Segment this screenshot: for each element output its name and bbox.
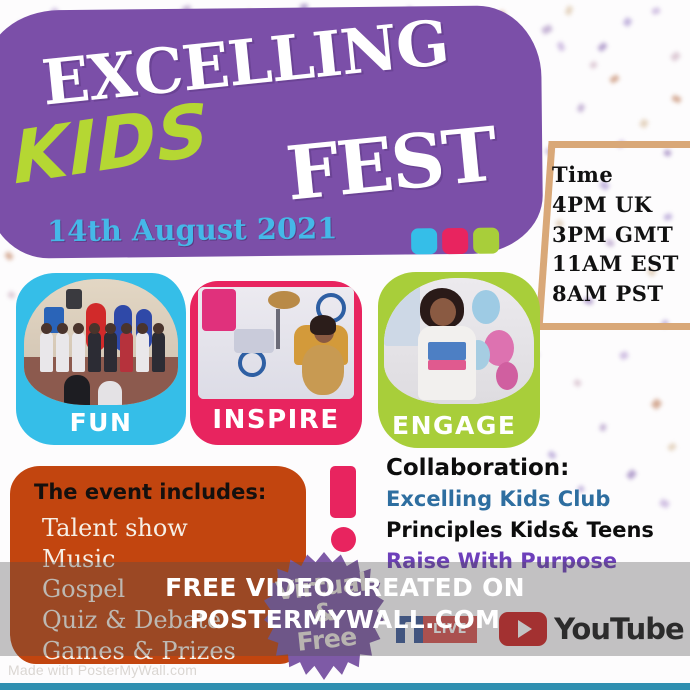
social-badges: LIVE YouTube: [396, 612, 684, 646]
youtube-icon[interactable]: [499, 612, 547, 646]
card-inspire-photo: [198, 287, 354, 399]
event-date: 14th August 2021: [47, 211, 338, 248]
event-includes-box: The event includes: Talent show Music Go…: [10, 466, 306, 664]
youtube-wordmark: YouTube: [554, 612, 684, 646]
swatch-green: [473, 228, 499, 254]
collaboration-heading: Collaboration:: [386, 455, 690, 481]
headline-banner: EXCELLING KIDS FEST 14th August 2021: [0, 5, 543, 259]
color-swatches: [411, 228, 499, 255]
card-engage: ENGAGE: [378, 272, 540, 448]
collaboration-section: Collaboration: Excelling Kids Club Princ…: [386, 455, 690, 573]
card-inspire-label: INSPIRE: [190, 405, 362, 435]
facebook-icon[interactable]: [396, 616, 423, 643]
time-line-uk: 4PM UK: [552, 190, 690, 220]
time-heading: Time: [552, 160, 690, 190]
collaboration-partner-raise-with-purpose: Raise With Purpose: [386, 549, 690, 573]
starburst-badge-text: Virtual & Free: [260, 568, 388, 659]
card-engage-label: ENGAGE: [378, 411, 540, 440]
collaboration-partner-principles-kids-teens: Principles Kids& Teens: [386, 518, 690, 542]
youtube-badge[interactable]: YouTube: [499, 612, 684, 646]
facebook-live-badge[interactable]: LIVE: [396, 616, 477, 643]
title-fest: FEST: [283, 112, 500, 218]
card-fun-label: FUN: [16, 408, 186, 437]
swatch-pink: [442, 228, 468, 254]
time-line-gmt: 3PM GMT: [552, 220, 690, 250]
live-label: LIVE: [423, 616, 477, 643]
includes-item-music: Music: [42, 544, 236, 575]
collaboration-partner-excelling-kids-club: Excelling Kids Club: [386, 487, 690, 511]
bottom-strip: [0, 683, 690, 690]
time-line-est: 11AM EST: [552, 249, 690, 279]
card-fun-photo: [24, 279, 178, 405]
event-includes-title: The event includes:: [34, 480, 266, 504]
time-line-pst: 8AM PST: [552, 279, 690, 309]
poster-canvas: Time 4PM UK 3PM GMT 11AM EST 8AM PST EXC…: [0, 0, 690, 690]
time-box-text: Time 4PM UK 3PM GMT 11AM EST 8AM PST: [552, 160, 690, 309]
event-includes-list: Talent show Music Gospel Quiz & Debate G…: [42, 513, 236, 667]
includes-item-talent-show: Talent show: [42, 513, 236, 544]
card-inspire: INSPIRE: [190, 281, 362, 445]
swatch-cyan: [411, 228, 437, 254]
includes-item-gospel: Gospel: [42, 574, 236, 605]
includes-item-quiz-debate: Quiz & Debate: [42, 605, 236, 636]
made-with-credit: Made with PosterMyWall.com: [8, 662, 197, 678]
exclamation-mark-icon: [330, 466, 356, 552]
card-engage-photo: [384, 278, 534, 404]
title-kids: KIDS: [11, 87, 211, 201]
card-fun: FUN: [16, 273, 186, 445]
